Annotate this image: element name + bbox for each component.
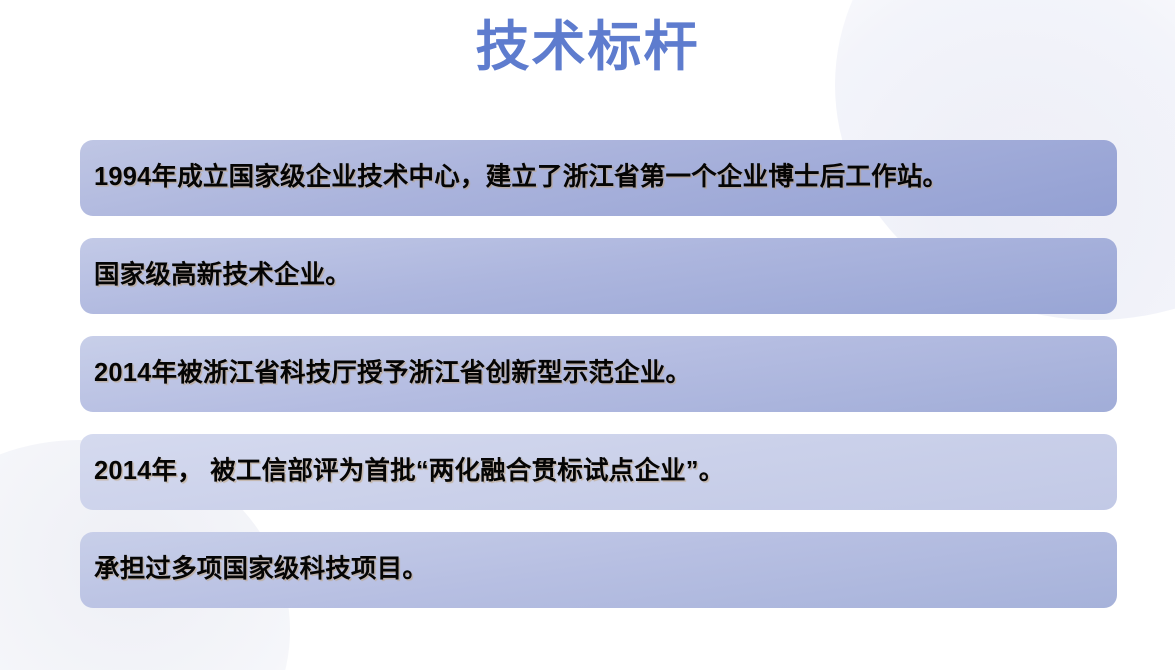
slide-canvas: 技术标杆 1994年成立国家级企业技术中心，建立了浙江省第一个企业博士后工作站。… xyxy=(0,0,1175,670)
bullet-text: 承担过多项国家级科技项目。 xyxy=(94,554,428,586)
bullet-bar[interactable]: 国家级高新技术企业。 xyxy=(80,238,1117,314)
bullet-bar[interactable]: 2014年被浙江省科技厅授予浙江省创新型示范企业。 xyxy=(80,336,1117,412)
bullet-text: 2014年， 被工信部评为首批“两化融合贯标试点企业”。 xyxy=(94,456,724,488)
bullet-bar[interactable]: 2014年， 被工信部评为首批“两化融合贯标试点企业”。 xyxy=(80,434,1117,510)
bullet-bar[interactable]: 1994年成立国家级企业技术中心，建立了浙江省第一个企业博士后工作站。 xyxy=(80,140,1117,216)
bullet-text: 2014年被浙江省科技厅授予浙江省创新型示范企业。 xyxy=(94,358,691,390)
bullet-bar[interactable]: 承担过多项国家级科技项目。 xyxy=(80,532,1117,608)
bullet-text: 国家级高新技术企业。 xyxy=(94,260,351,292)
bullet-text: 1994年成立国家级企业技术中心，建立了浙江省第一个企业博士后工作站。 xyxy=(94,162,948,194)
slide-title: 技术标杆 xyxy=(0,16,1175,80)
bullet-bar-list: 1994年成立国家级企业技术中心，建立了浙江省第一个企业博士后工作站。 国家级高… xyxy=(80,140,1117,608)
